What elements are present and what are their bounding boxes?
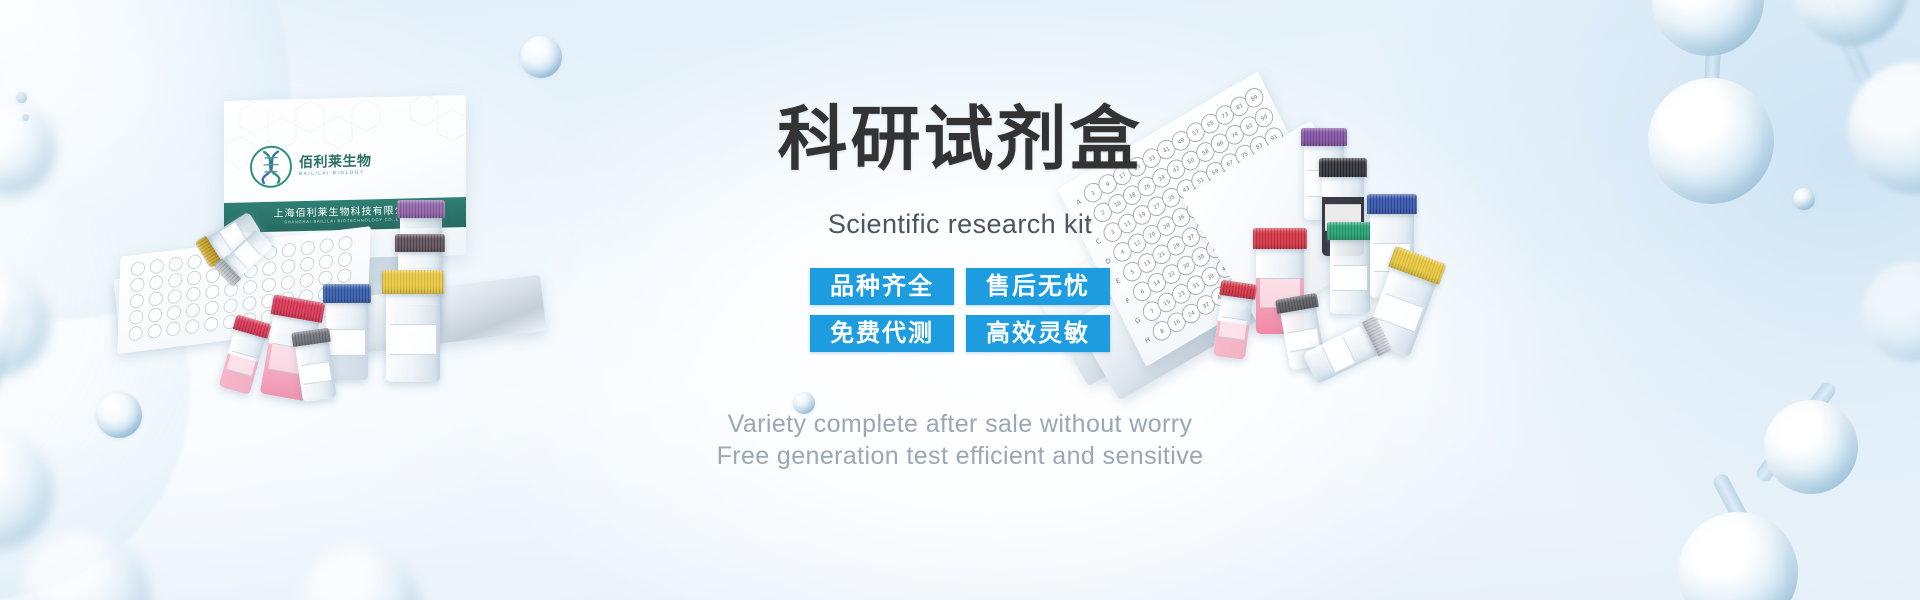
droplet-decor-5 [1793, 188, 1815, 210]
banner-slogan-line1: Variety complete after sale without worr… [560, 408, 1360, 440]
vial-cap [395, 234, 445, 252]
banner-content: 科研试剂盒 Scientific research kit 品种齐全 售后无忧 … [560, 0, 1360, 600]
molecule-bond-right-1 [1701, 26, 1722, 145]
droplet-decor-6 [16, 92, 27, 103]
molecule-atom-left-4 [20, 530, 150, 600]
feature-tag-aftersale[interactable]: 售后无忧 [966, 268, 1110, 305]
banner-title: 科研试剂盒 [560, 104, 1360, 174]
product-photo-left: 佰利莱生物 BAILILAI BIOLOGY 上海佰利莱生物科技有限公司 SHA… [112, 92, 542, 382]
vial-cap [382, 270, 444, 294]
banner-subtitle: Scientific research kit [560, 211, 1360, 238]
vial-left-yellow [386, 270, 440, 382]
feature-tag-variety[interactable]: 品种齐全 [810, 268, 954, 305]
feature-tag-list: 品种齐全 售后无忧 免费代测 高效灵敏 [765, 268, 1155, 352]
molecule-atom-right-3 [1792, 0, 1908, 46]
droplet-decor-1 [520, 36, 562, 78]
droplet-decor-3 [96, 392, 142, 438]
molecule-atom-left-5 [300, 545, 420, 600]
vial-cap [397, 200, 445, 218]
kit-brand-name-cn: 佰利莱生物 [299, 154, 372, 170]
molecule-atom-left-3 [0, 100, 56, 196]
vial-cap [1367, 194, 1417, 214]
molecule-bond-right-4 [1711, 471, 1766, 554]
molecule-atom-right-2 [1648, 78, 1774, 204]
banner-slogan: Variety complete after sale without worr… [560, 408, 1360, 472]
molecule-atom-left-1 [0, 268, 50, 376]
feature-tag-sensitive[interactable]: 高效灵敏 [966, 315, 1110, 352]
molecule-atom-right-5 [1764, 400, 1858, 494]
molecule-atom-right-6 [1678, 512, 1798, 600]
promo-banner: 佰利莱生物 BAILILAI BIOLOGY 上海佰利莱生物科技有限公司 SHA… [0, 0, 1920, 600]
molecule-atom-right-4 [1848, 62, 1920, 194]
droplet-decor-7 [22, 114, 29, 121]
molecule-atom-left-2 [0, 430, 54, 550]
molecule-bond-left-1 [0, 300, 24, 396]
molecule-atom-right-1 [1652, 0, 1764, 56]
kit-company-name-en: SHANGHAI BAILILAI BIOTECHNOLOGY CO.,LTD [284, 217, 406, 225]
dna-helix-icon [250, 145, 292, 188]
kit-brand-lockup: 佰利莱生物 BAILILAI BIOLOGY [250, 143, 372, 188]
feature-tag-freetest[interactable]: 免费代测 [810, 315, 954, 352]
kit-brand-name-en: BAILILAI BIOLOGY [299, 171, 372, 177]
molecule-atom-right-7 [1862, 262, 1920, 362]
vial-cap [323, 284, 371, 303]
molecule-bond-right-2 [1817, 0, 1873, 87]
molecule-bond-right-3 [1754, 379, 1839, 484]
banner-slogan-line2: Free generation test efficient and sensi… [560, 440, 1360, 472]
